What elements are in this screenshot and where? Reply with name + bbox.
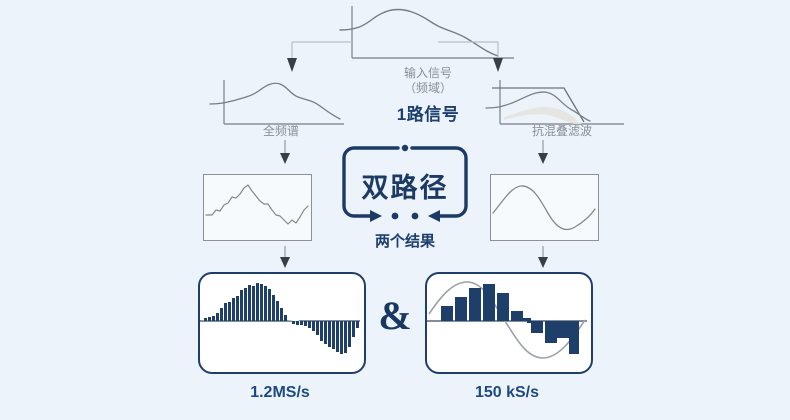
arrow-left-to-panel: [278, 246, 292, 272]
bottom-dot-right-icon: [412, 213, 419, 220]
sample-bars: [441, 284, 579, 354]
arrow-head-icon: [538, 257, 548, 268]
high-rate-sampling-panel: [198, 272, 366, 374]
ampersand-symbol: &: [373, 292, 417, 339]
low-rate-sampling-panel: [425, 272, 593, 374]
full-spectrum-caption: 全频谱: [206, 124, 356, 139]
sample-bars: [204, 283, 359, 354]
sine-trace: [493, 186, 595, 230]
arrow-inward-left-icon: [370, 210, 382, 222]
arrow-right-to-waveform: [536, 140, 550, 166]
sine-waveform: [490, 174, 599, 241]
arrow-inward-right-icon: [428, 210, 440, 222]
two-results-label: 两个结果: [340, 230, 470, 251]
arrow-left-to-waveform: [278, 140, 292, 166]
noise-trace: [206, 185, 308, 224]
high-rate-label: 1.2MS/s: [198, 384, 362, 402]
top-dot-icon: [402, 145, 408, 151]
spectrum-curve: [210, 83, 340, 119]
arrow-head-left-icon: [287, 58, 297, 72]
arrow-head-icon: [280, 153, 290, 164]
sample-bars-extra: [527, 321, 531, 323]
arrow-head-icon: [538, 153, 548, 164]
arrow-head-icon: [280, 257, 290, 268]
noisy-waveform: [203, 174, 312, 241]
arrow-head-right-icon: [493, 58, 503, 72]
low-rate-label: 150 kS/s: [425, 384, 589, 402]
top-split-connector: [270, 36, 520, 76]
diagram-canvas: 输入信号 （频域） 1路信号 全频谱: [0, 0, 790, 420]
dual-path-label: 双路径: [340, 160, 470, 210]
arrow-right-to-panel: [536, 246, 550, 272]
anti-alias-caption: 抗混叠滤波: [482, 124, 642, 139]
bottom-dot-left-icon: [392, 213, 399, 220]
